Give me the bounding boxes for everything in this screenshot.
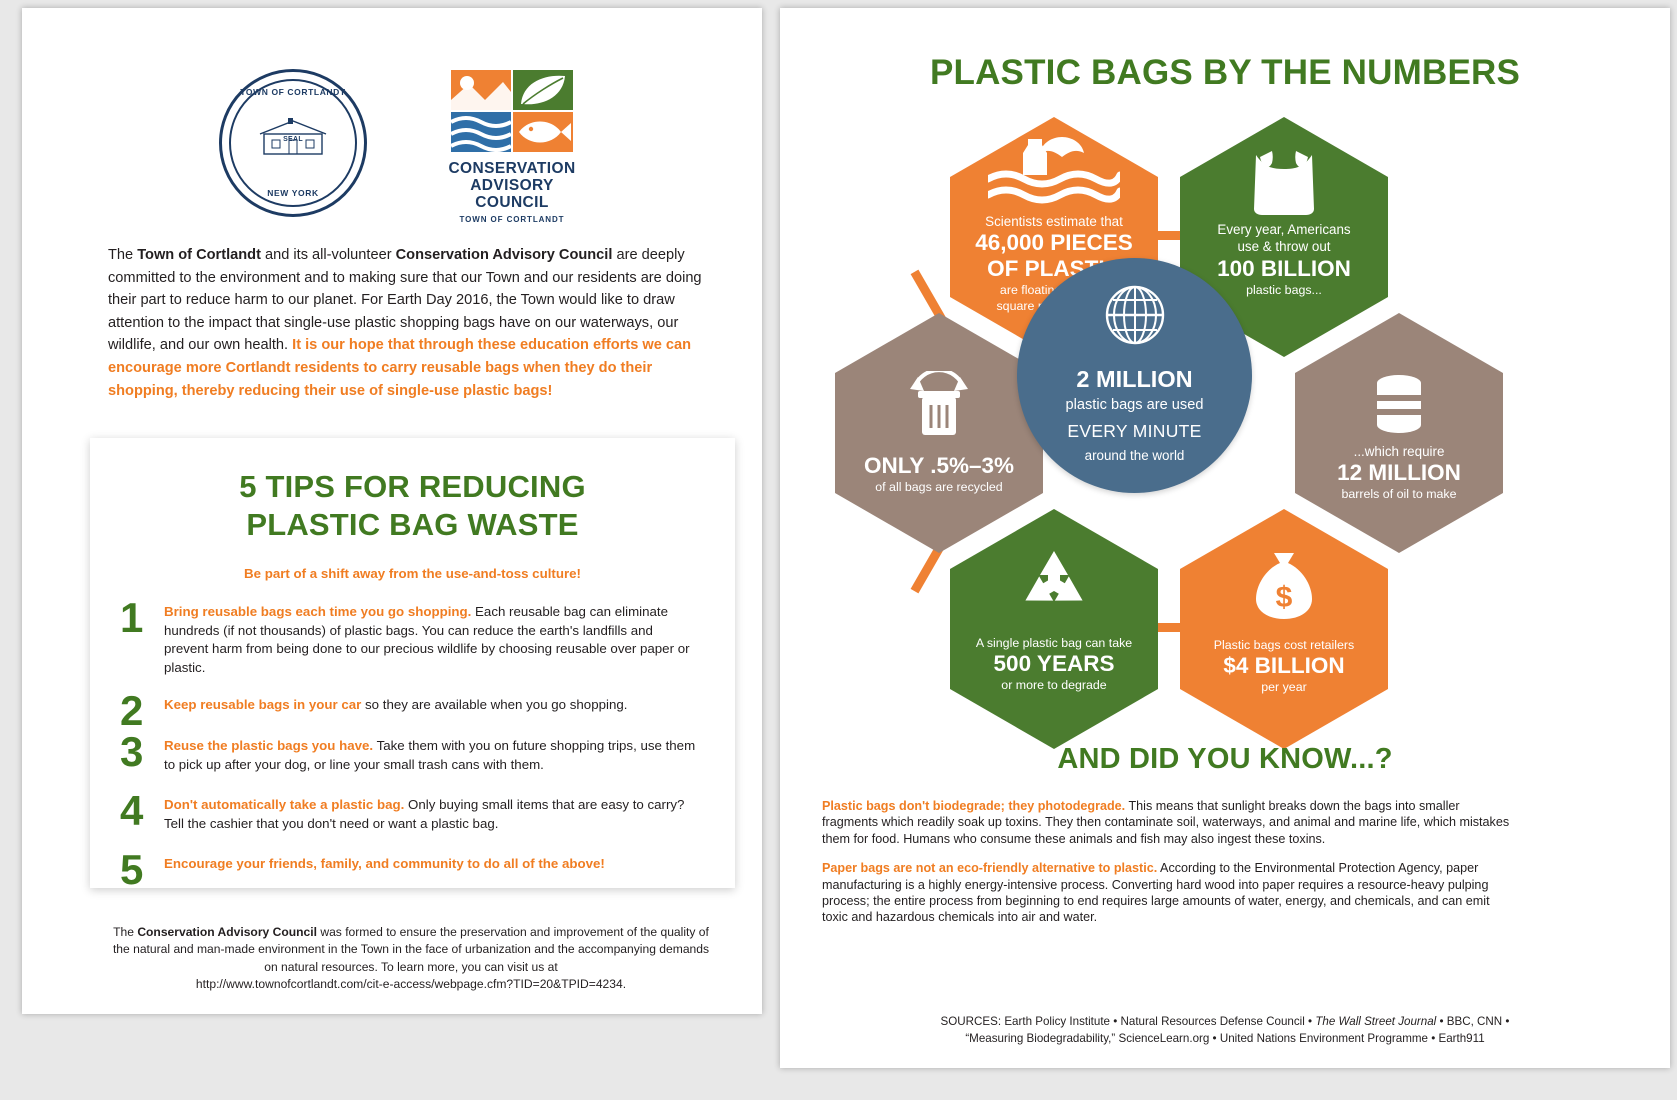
tip-item-5: 5Encourage your friends, family, and com…: [120, 855, 699, 874]
did-you-know-body: Plastic bags don't biodegrade; they phot…: [822, 798, 1512, 939]
hexagon-degrade-time[interactable]: A single plastic bag can take 500 YEARS …: [950, 509, 1158, 749]
tip-lead-1: Bring reusable bags each time you go sho…: [164, 604, 471, 619]
tip-item-2: 2Keep reusable bags in your car so they …: [120, 696, 699, 715]
hexagon-barrels-of-oil[interactable]: ...which require 12 MILLION barrels of o…: [1295, 313, 1503, 553]
logo-row: TOWN OF CORTLANDT SEAL NEW YORK: [22, 56, 762, 216]
footer-cac-bold: Conservation Advisory Council: [137, 925, 317, 939]
tip-lead-5: Encourage your friends, family, and comm…: [164, 856, 605, 871]
hexagon-infographic: Scientists estimate that 46,000 PIECES O…: [780, 103, 1670, 713]
town-seal-logo: TOWN OF CORTLANDT SEAL NEW YORK: [219, 69, 367, 217]
seal-top-text: TOWN OF CORTLANDT: [222, 87, 364, 97]
hex4-small: ...which require: [1307, 443, 1491, 460]
tip-item-3: 3Reuse the plastic bags you have. Take t…: [120, 737, 699, 774]
center-big-number: 2 MILLION: [1017, 366, 1252, 393]
hex2-small-line2: use & throw out: [1192, 238, 1376, 255]
seal-bottom-text: NEW YORK: [222, 188, 364, 198]
hex3-tiny: of all bags are recycled: [847, 479, 1031, 495]
cac-name-line1: CONSERVATION: [432, 160, 592, 177]
cac-logo-sub: TOWN OF CORTLANDT: [432, 215, 592, 224]
tips-subtitle: Be part of a shift away from the use-and…: [90, 566, 735, 581]
hex3-big: ONLY .5%–3%: [847, 453, 1031, 479]
sources-line2: “Measuring Biodegradability,” ScienceLea…: [965, 1032, 1484, 1045]
oil-barrel-icon: [1362, 371, 1436, 441]
hex1-small: Scientists estimate that: [962, 213, 1146, 230]
dyk-lead-1: Plastic bags don't biodegrade; they phot…: [822, 799, 1125, 813]
dyk-paragraph-2: Paper bags are not an eco-friendly alter…: [822, 860, 1512, 926]
cac-logo: CONSERVATION ADVISORY COUNCIL TOWN OF CO…: [432, 70, 592, 224]
globe-icon: [1104, 284, 1166, 346]
money-bag-icon: $: [1248, 549, 1320, 623]
tip-number-4: 4: [120, 790, 143, 832]
tip-number-1: 1: [120, 597, 143, 639]
center-line-4: around the world: [1017, 448, 1252, 463]
hex5-small: A single plastic bag can take: [962, 635, 1146, 651]
hex6-tiny: per year: [1192, 679, 1376, 695]
tips-title: 5 TIPS FOR REDUCING PLASTIC BAG WASTE: [90, 438, 735, 544]
tip-rest-2: so they are available when you go shoppi…: [361, 697, 627, 712]
hexagon-retailer-cost[interactable]: $ Plastic bags cost retailers $4 BILLION…: [1180, 509, 1388, 749]
intro-a: The: [108, 247, 137, 263]
intro-cac-bold: Conservation Advisory Council: [396, 247, 613, 263]
logo-quadrant-leaf-icon: [513, 70, 573, 110]
hex4-tiny: barrels of oil to make: [1307, 486, 1491, 502]
hexagon-recycled-percentage[interactable]: ONLY .5%–3% of all bags are recycled: [835, 313, 1043, 553]
left-page: TOWN OF CORTLANDT SEAL NEW YORK: [22, 8, 762, 1014]
center-line-3: EVERY MINUTE: [1017, 421, 1252, 442]
tip-number-5: 5: [120, 849, 143, 891]
hex5-big: 500 YEARS: [962, 651, 1146, 677]
tip-number-3: 3: [120, 731, 143, 773]
logo-quadrant-fish-icon: [513, 112, 573, 152]
tip-number-2: 2: [120, 690, 143, 732]
intro-paragraph: The Town of Cortlandt and its all-volunt…: [108, 244, 712, 402]
recycle-bin-icon: [898, 371, 980, 443]
hex2-small-line1: Every year, Americans: [1192, 221, 1376, 238]
footer-url[interactable]: http://www.townofcortlandt.com/cit-e-acc…: [196, 977, 626, 991]
right-page-title: PLASTIC BAGS BY THE NUMBERS: [780, 53, 1670, 93]
hex6-big: $4 BILLION: [1192, 653, 1376, 679]
logo-quadrant-sun-icon: [451, 70, 511, 110]
tips-title-line1: 5 TIPS FOR REDUCING: [90, 468, 735, 506]
logo-quadrant-water-icon: [451, 112, 511, 152]
sources-line1-b: • BBC, CNN •: [1436, 1015, 1509, 1028]
dyk-paragraph-1: Plastic bags don't biodegrade; they phot…: [822, 798, 1512, 847]
right-page: PLASTIC BAGS BY THE NUMBERS Scientists e…: [780, 8, 1670, 1068]
tip-item-4: 4Don't automatically take a plastic bag.…: [120, 796, 699, 833]
footer-a: The: [113, 925, 137, 939]
center-line-2: plastic bags are used: [1017, 397, 1252, 413]
dyk-lead-2: Paper bags are not an eco-friendly alter…: [822, 861, 1157, 875]
recycle-arrows-icon: [1013, 545, 1095, 623]
tip-item-1: 1Bring reusable bags each time you go sh…: [120, 603, 699, 677]
hex1-big-line1: 46,000 PIECES: [962, 230, 1146, 256]
center-stat-circle[interactable]: 2 MILLION plastic bags are used EVERY MI…: [1017, 258, 1252, 493]
hex6-small: Plastic bags cost retailers: [1192, 637, 1376, 653]
hex5-tiny: or more to degrade: [962, 677, 1146, 693]
hex2-big: 100 BILLION: [1192, 256, 1376, 282]
seal-mid-text: SEAL: [222, 136, 364, 143]
left-footer-text: The Conservation Advisory Council was fo…: [106, 924, 716, 994]
did-you-know-heading: AND DID YOU KNOW...?: [780, 743, 1670, 776]
plastic-bag-icon: [1246, 141, 1322, 215]
sources-line1-italic: The Wall Street Journal: [1315, 1015, 1436, 1028]
sources-line1-a: SOURCES: Earth Policy Institute • Natura…: [941, 1015, 1316, 1028]
document-canvas: TOWN OF CORTLANDT SEAL NEW YORK: [0, 0, 1677, 1100]
cac-logo-name: CONSERVATION ADVISORY COUNCIL: [432, 160, 592, 211]
cac-name-line2: ADVISORY COUNCIL: [432, 177, 592, 211]
tips-title-line2: PLASTIC BAG WASTE: [90, 506, 735, 544]
tip-lead-2: Keep reusable bags in your car: [164, 697, 361, 712]
cac-logo-mark: [451, 70, 573, 152]
intro-c: and its all-volunteer: [261, 247, 396, 263]
tip-lead-4: Don't automatically take a plastic bag.: [164, 797, 404, 812]
intro-town-bold: Town of Cortlandt: [137, 247, 261, 263]
ocean-waves-bottle-icon: [988, 135, 1120, 207]
hex4-big: 12 MILLION: [1307, 460, 1491, 486]
tips-card: 5 TIPS FOR REDUCING PLASTIC BAG WASTE Be…: [90, 438, 735, 888]
svg-text:$: $: [1276, 581, 1293, 614]
tip-lead-3: Reuse the plastic bags you have.: [164, 738, 373, 753]
sources-text: SOURCES: Earth Policy Institute • Natura…: [825, 1014, 1625, 1047]
